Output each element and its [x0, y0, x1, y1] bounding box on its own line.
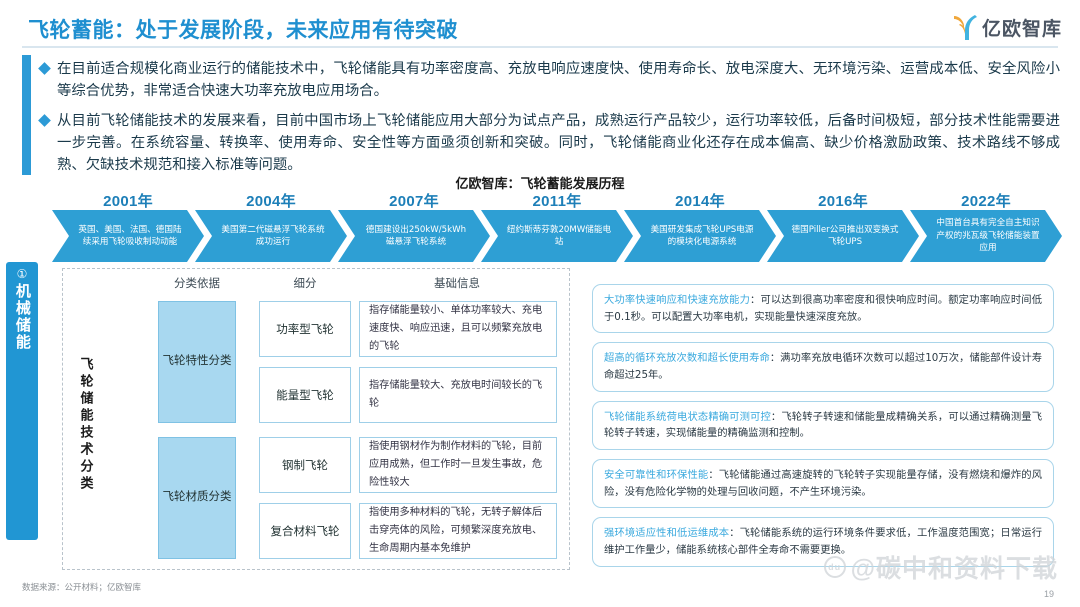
timeline-chevron: 美国研发集成飞轮UPS电源的模块化电源系统 — [624, 210, 776, 262]
feature-title: 大功率快速响应和快速充放能力 — [604, 294, 750, 306]
column-header-info: 基础信息 — [359, 275, 555, 291]
timeline-year: 2007年 — [338, 190, 490, 211]
logo-text: 亿欧智库 — [982, 14, 1062, 41]
subdivision-box: 复合材料飞轮 — [259, 503, 351, 559]
timeline-item: 2004年 美国第二代磁悬浮飞轮系统成功运行 — [195, 190, 347, 262]
slide-root: 飞轮蓄能：处于发展阶段，未来应用有待突破 亿欧智库 在目前适合规模化商业运行的储… — [0, 0, 1080, 607]
category-box: 飞轮材质分类 — [158, 437, 236, 559]
page-number: 19 — [1044, 589, 1054, 599]
slide-header: 飞轮蓄能：处于发展阶段，未来应用有待突破 亿欧智库 — [0, 0, 1080, 52]
feature-card: 大功率快速响应和快速充放能力：可以达到很高功率密度和很快响应时间。额定功率响应时… — [592, 284, 1054, 333]
category-label: 飞轮特性分类 — [163, 352, 232, 372]
category-label: 飞轮材质分类 — [163, 488, 232, 508]
timeline-chevron: 中国首台具有完全自主知识产权的兆瓦级飞轮储能装置应用 — [910, 210, 1062, 262]
timeline-chevron: 美国第二代磁悬浮飞轮系统成功运行 — [195, 210, 347, 262]
info-text: 指使用钢材作为制作材料的飞轮，目前应用成熟，但工作时一旦发生事故，危险性较大 — [369, 438, 547, 492]
timeline-desc: 纽约斯蒂芬敦20MW储能电站 — [481, 224, 633, 249]
timeline-chevron: 德国Piller公司推出双变换式飞轮UPS — [767, 210, 919, 262]
timeline-item: 2007年 德国建设出250kW/5kWh磁悬浮飞轮系统 — [338, 190, 490, 262]
timeline-chevron: 纽约斯蒂芬敦20MW储能电站 — [481, 210, 633, 262]
page-title: 飞轮蓄能：处于发展阶段，未来应用有待突破 — [28, 14, 458, 44]
category-box: 飞轮特性分类 — [158, 301, 236, 423]
timeline-item: 2022年 中国首台具有完全自主知识产权的兆瓦级飞轮储能装置应用 — [910, 190, 1062, 262]
bullet-text: 从目前飞轮储能技术的发展来看，目前中国市场上飞轮储能应用大部分为试点产品，成熟运… — [57, 110, 1060, 177]
timeline-item: 2014年 美国研发集成飞轮UPS电源的模块化电源系统 — [624, 190, 776, 262]
brand-logo: 亿欧智库 — [951, 10, 1062, 44]
timeline-year: 2022年 — [910, 190, 1062, 211]
classification-header-row: 分类依据 细分 基础信息 — [63, 275, 569, 295]
timeline-item: 2001年 英国、美国、法国、德国陆续采用飞轮吸收制动动能 — [52, 190, 204, 262]
subdivision-box: 钢制飞轮 — [259, 437, 351, 493]
info-box: 指使用钢材作为制作材料的飞轮，目前应用成熟，但工作时一旦发生事故，危险性较大 — [359, 437, 557, 493]
classification-vertical-label: 飞轮储能技术分类 — [73, 315, 99, 535]
timeline-year: 2001年 — [52, 190, 204, 211]
subdivision-label: 功率型飞轮 — [276, 321, 334, 337]
source-note: 数据来源：公开材料；亿欧智库 — [22, 581, 141, 593]
feature-card: 强环境适应性和低运维成本：飞轮储能系统的运行环境条件要求低，工作温度范围宽；日常… — [592, 517, 1054, 566]
bullet-item: 从目前飞轮储能技术的发展来看，目前中国市场上飞轮储能应用大部分为试点产品，成熟运… — [40, 110, 1060, 177]
bullet-list: 在目前适合规模化商业运行的储能技术中，飞轮储能具有功率密度高、充放电响应速度快、… — [40, 58, 1060, 184]
info-text: 指使用多种材料的飞轮，无转子解体后击穿壳体的风险，可频繁深度充放电、生命周期内基… — [369, 504, 547, 558]
subdivision-label: 钢制飞轮 — [282, 457, 328, 473]
section-number: ① — [17, 268, 28, 281]
timeline-desc: 美国第二代磁悬浮飞轮系统成功运行 — [195, 224, 347, 249]
info-box: 指使用多种材料的飞轮，无转子解体后击穿壳体的风险，可频繁深度充放电、生命周期内基… — [359, 503, 557, 559]
classification-panel: 分类依据 细分 基础信息 飞轮储能技术分类 飞轮特性分类 功率型飞轮 指存储能量… — [62, 268, 570, 570]
timeline: 2001年 英国、美国、法国、德国陆续采用飞轮吸收制动动能 2004年 美国第二… — [52, 190, 1062, 262]
timeline-item: 2016年 德国Piller公司推出双变换式飞轮UPS — [767, 190, 919, 262]
section-tab-mechanical-storage[interactable]: ① 机械储能 — [6, 262, 38, 540]
timeline-year: 2014年 — [624, 190, 776, 211]
timeline-desc: 美国研发集成飞轮UPS电源的模块化电源系统 — [624, 224, 776, 249]
feature-title: 超高的循环充放次数和超长使用寿命 — [604, 352, 770, 364]
subdivision-label: 复合材料飞轮 — [271, 523, 340, 539]
header-divider — [22, 46, 1058, 48]
feature-title: 安全可靠性和环保性能 — [604, 469, 708, 481]
feature-title: 强环境适应性和低运维成本 — [604, 527, 729, 539]
column-header-subdiv: 细分 — [259, 275, 351, 291]
feature-card-list: 大功率快速响应和快速充放能力：可以达到很高功率密度和很快响应时间。额定功率响应时… — [592, 284, 1054, 576]
subdivision-box: 功率型飞轮 — [259, 301, 351, 357]
timeline-desc: 德国建设出250kW/5kWh磁悬浮飞轮系统 — [338, 224, 490, 249]
timeline-desc: 德国Piller公司推出双变换式飞轮UPS — [767, 224, 919, 249]
feature-title: 飞轮储能系统荷电状态精确可测可控 — [604, 411, 771, 423]
diamond-bullet-icon — [38, 62, 51, 75]
bullet-item: 在目前适合规模化商业运行的储能技术中，飞轮储能具有功率密度高、充放电响应速度快、… — [40, 58, 1060, 103]
timeline-year: 2011年 — [481, 190, 633, 211]
timeline-chevron: 英国、美国、法国、德国陆续采用飞轮吸收制动动能 — [52, 210, 204, 262]
subdivision-label: 能量型飞轮 — [276, 387, 334, 403]
feature-card: 安全可靠性和环保性能：飞轮储能通过高速旋转的飞轮转子实现能量存储，没有燃烧和爆炸… — [592, 459, 1054, 508]
section-label: 机械储能 — [14, 283, 30, 351]
column-header-basis: 分类依据 — [149, 275, 245, 291]
timeline-desc: 英国、美国、法国、德国陆续采用飞轮吸收制动动能 — [52, 224, 204, 249]
info-box: 指存储能量较大、充放电时间较长的飞轮 — [359, 367, 557, 423]
info-box: 指存储能量较小、单体功率较大、充电速度快、响应迅速，且可以频繁充放电的飞轮 — [359, 301, 557, 357]
timeline-year: 2004年 — [195, 190, 347, 211]
timeline-item: 2011年 纽约斯蒂芬敦20MW储能电站 — [481, 190, 633, 262]
subdivision-box: 能量型飞轮 — [259, 367, 351, 423]
bullet-accent-bar — [22, 55, 31, 175]
diamond-bullet-icon — [38, 114, 51, 127]
timeline-desc: 中国首台具有完全自主知识产权的兆瓦级飞轮储能装置应用 — [910, 217, 1062, 254]
timeline-chevron: 德国建设出250kW/5kWh磁悬浮飞轮系统 — [338, 210, 490, 262]
logo-mark-icon — [951, 12, 979, 42]
info-text: 指存储能量较大、充放电时间较长的飞轮 — [369, 377, 547, 413]
feature-card: 飞轮储能系统荷电状态精确可测可控：飞轮转子转速和储能量成精确关系，可以通过精确测… — [592, 401, 1054, 450]
bullet-text: 在目前适合规模化商业运行的储能技术中，飞轮储能具有功率密度高、充放电响应速度快、… — [57, 58, 1060, 103]
feature-card: 超高的循环充放次数和超长使用寿命：满功率充放电循环次数可以超过10万次，储能部件… — [592, 342, 1054, 391]
info-text: 指存储能量较小、单体功率较大、充电速度快、响应迅速，且可以频繁充放电的飞轮 — [369, 302, 547, 356]
timeline-year: 2016年 — [767, 190, 919, 211]
